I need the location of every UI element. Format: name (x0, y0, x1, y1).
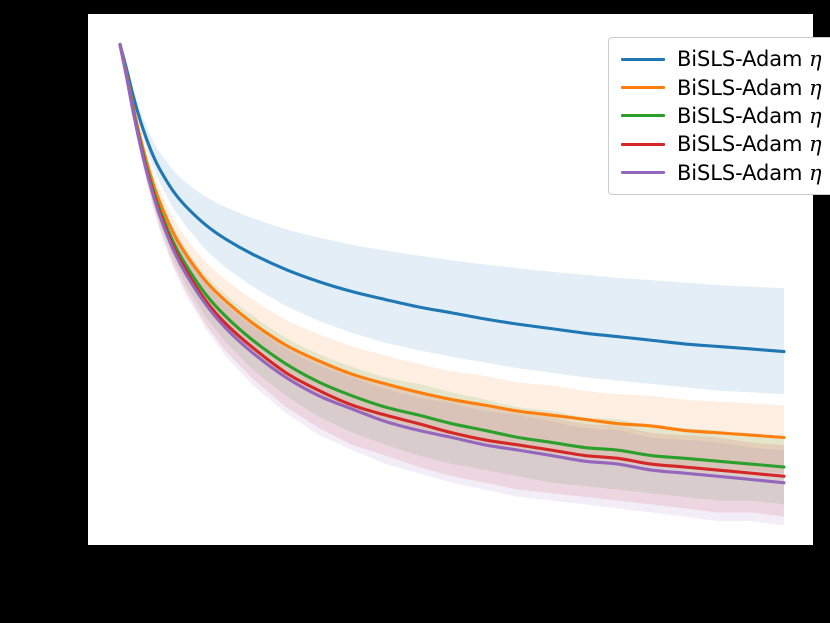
legend-swatch-eta-2 (621, 86, 665, 89)
legend-swatch-eta-7 (621, 143, 665, 146)
legend-entry[interactable]: BiSLS-Adam η = 10.0 (621, 159, 830, 187)
legend-label-eta-10: BiSLS-Adam η = 10.0 (677, 161, 830, 185)
legend-swatch-eta-1 (621, 58, 665, 61)
legend-entry[interactable]: BiSLS-Adam η = 5.0 (621, 102, 830, 130)
legend-entry[interactable]: BiSLS-Adam η = 1.0 (621, 45, 830, 73)
legend-label-eta-7: BiSLS-Adam η = 7.0 (677, 132, 830, 156)
legend-entry[interactable]: BiSLS-Adam η = 2.0 (621, 74, 830, 102)
legend-entry[interactable]: BiSLS-Adam η = 7.0 (621, 130, 830, 158)
legend-label-eta-2: BiSLS-Adam η = 2.0 (677, 76, 830, 100)
plot-area: BiSLS-Adam η = 1.0 BiSLS-Adam η = 2.0 Bi… (88, 14, 813, 545)
figure-root: BiSLS-Adam η = 1.0 BiSLS-Adam η = 2.0 Bi… (0, 0, 830, 623)
legend-label-eta-5: BiSLS-Adam η = 5.0 (677, 104, 830, 128)
legend-label-eta-1: BiSLS-Adam η = 1.0 (677, 47, 830, 71)
legend-swatch-eta-10 (621, 171, 665, 174)
legend[interactable]: BiSLS-Adam η = 1.0 BiSLS-Adam η = 2.0 Bi… (608, 37, 830, 195)
legend-swatch-eta-5 (621, 114, 665, 117)
